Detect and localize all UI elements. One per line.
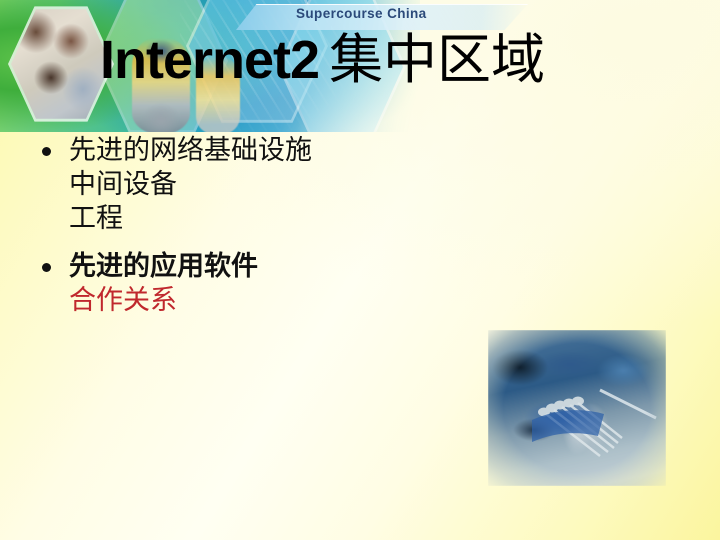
bullet-dot-icon (42, 147, 51, 156)
list-item: 先进的应用软件 合作关系 (38, 250, 508, 318)
presentation-slide: Supercourse China Internet2集中区域 先进的网络基础设… (0, 0, 720, 540)
list-item-label: 先进的网络基础设施 (69, 134, 508, 168)
list-item: 先进的网络基础设施 中间设备 工程 (38, 134, 508, 236)
page-title-cjk: 集中区域 (329, 28, 545, 91)
list-item-lines: 先进的应用软件 合作关系 (69, 250, 508, 318)
list-item-label: 工程 (69, 202, 508, 236)
bullet-dot-icon (42, 263, 51, 272)
list-item-label: 中间设备 (69, 168, 508, 202)
list-item-label-highlight: 合作关系 (69, 284, 508, 318)
surgical-instruments-photo (488, 330, 666, 486)
list-item-lines: 先进的网络基础设施 中间设备 工程 (69, 134, 508, 236)
supercourse-banner-label: Supercourse China (296, 6, 427, 21)
page-title: Internet2集中区域 (100, 33, 545, 87)
slide-body: 先进的网络基础设施 中间设备 工程 先进的应用软件 合作关系 (38, 134, 508, 318)
list-item-label: 先进的应用软件 (69, 250, 508, 284)
page-title-latin: Internet2 (100, 30, 319, 90)
